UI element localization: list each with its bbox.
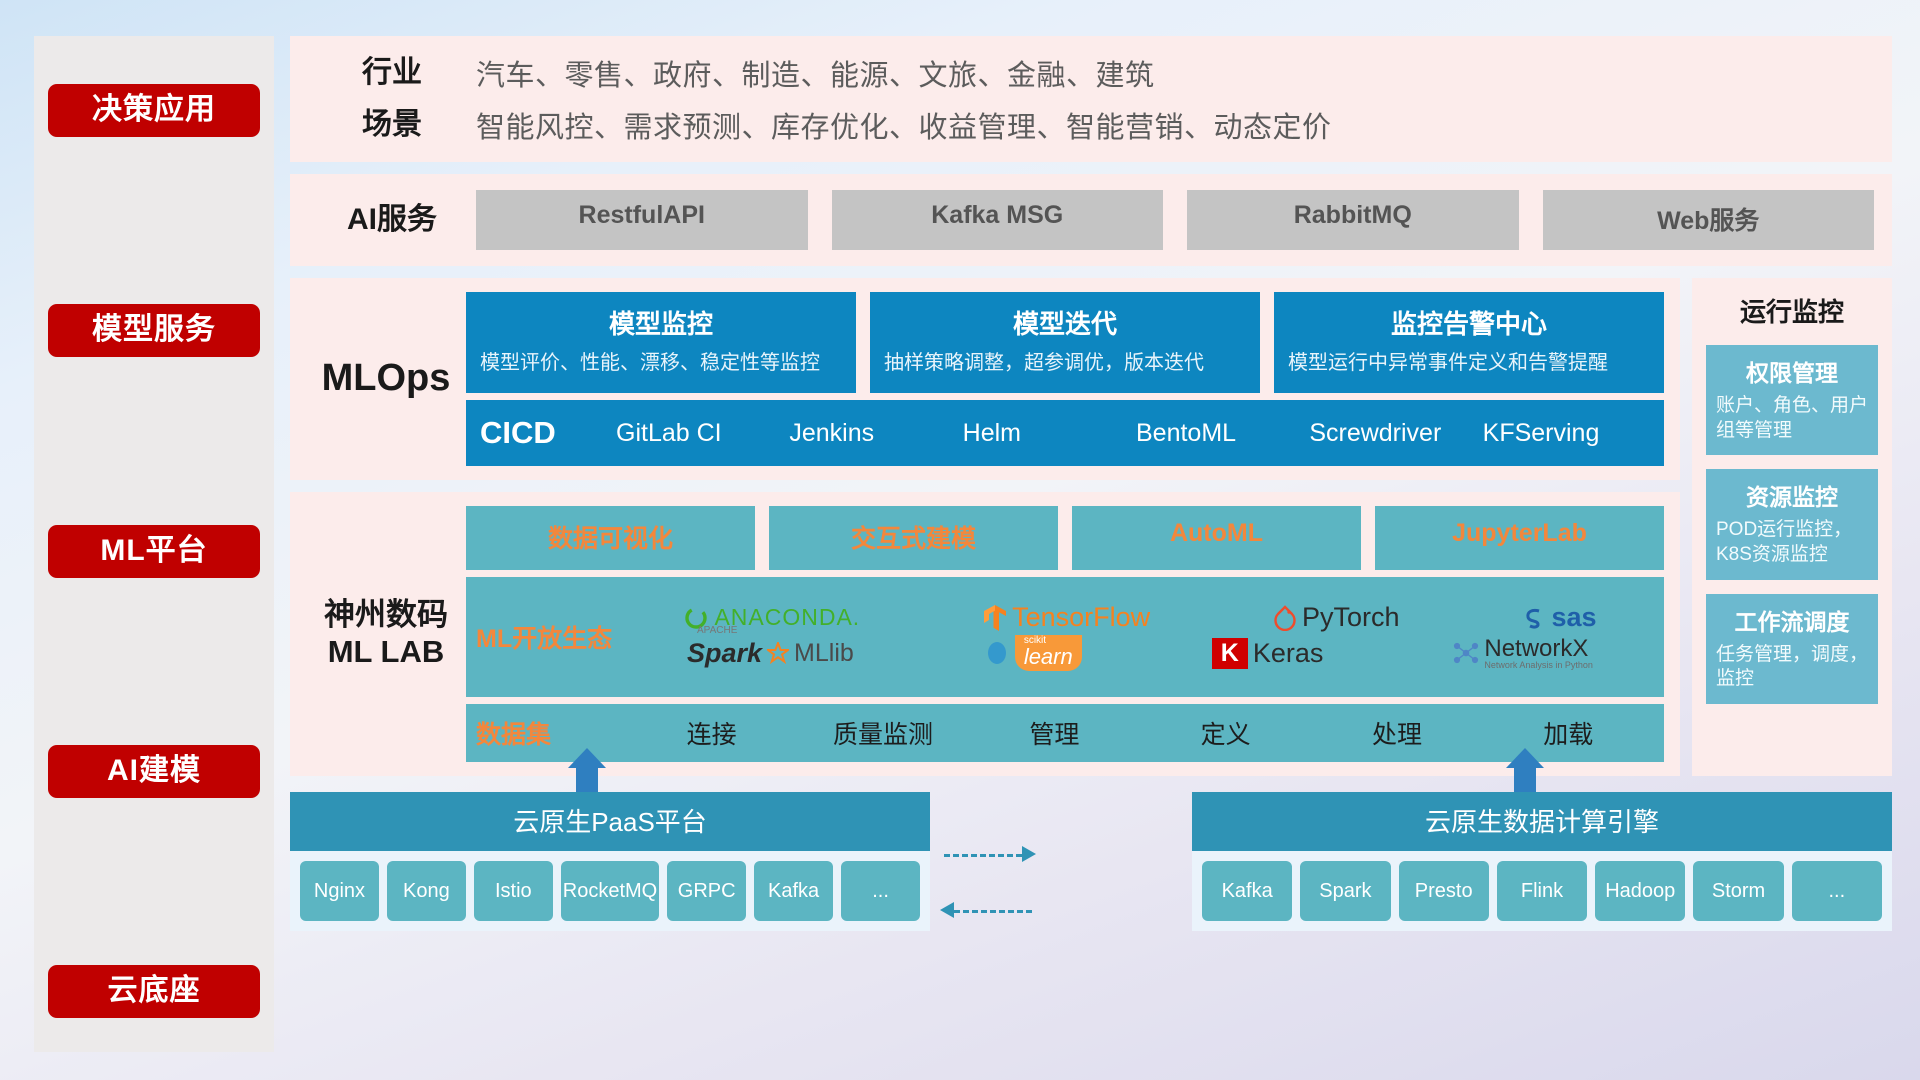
cicd-item-gitlab-ci[interactable]: GitLab CI: [616, 420, 783, 446]
service-kafka-msg[interactable]: Kafka MSG: [832, 190, 1164, 250]
eco-logo-row-1: ANACONDA. TensorFlow: [626, 602, 1654, 633]
ml-lab-label: 神州数码 ML LAB: [306, 506, 466, 762]
arrow-left-head: [940, 902, 954, 918]
paas-chip-kafka[interactable]: Kafka: [754, 861, 833, 921]
decision-apps-band: 行业 汽车、零售、政府、制造、能源、文旅、金融、建筑 场景 智能风控、需求预测、…: [290, 36, 1892, 162]
paas-chip-rocketmq[interactable]: RocketMQ: [561, 861, 659, 921]
cicd-item-screwdriver[interactable]: Screwdriver: [1309, 420, 1476, 446]
dataset-item-quality-monitor[interactable]: 质量监测: [797, 715, 968, 751]
data-engine-block: 云原生数据计算引擎 Kafka Spark Presto Flink Hadoo…: [1192, 792, 1892, 931]
paas-up-arrow-head: [568, 748, 606, 768]
monitor-card-permission[interactable]: 权限管理 账户、角色、用户组等管理: [1706, 345, 1878, 455]
service-rabbitmq[interactable]: RabbitMQ: [1187, 190, 1519, 250]
mlops-card-model-monitor[interactable]: 模型监控 模型评价、性能、漂移、稳定性等监控: [466, 292, 856, 393]
scenario-list: 智能风控、需求预测、库存优化、收益管理、智能营销、动态定价: [476, 104, 1332, 146]
paas-chip-kong[interactable]: Kong: [387, 861, 466, 921]
cloud-link-arrows: [930, 792, 1192, 931]
card-title: 资源监控: [1716, 478, 1868, 512]
card-title: 模型监控: [480, 304, 842, 341]
ai-service-label: AI服务: [308, 202, 476, 237]
spark-star-icon: [767, 642, 789, 664]
mllib-label: MLlib: [794, 639, 854, 668]
engine-chip-flink[interactable]: Flink: [1497, 861, 1587, 921]
pytorch-label: PyTorch: [1302, 602, 1400, 633]
pytorch-icon: [1273, 605, 1297, 631]
keras-label: Keras: [1253, 638, 1324, 669]
ml-lab-label-line1: 神州数码: [324, 597, 448, 634]
keras-k-icon: K: [1212, 638, 1248, 669]
dataset-item-manage[interactable]: 管理: [969, 715, 1140, 751]
networkx-icon: [1453, 641, 1479, 665]
tensorflow-logo: TensorFlow: [983, 602, 1150, 633]
monitoring-title: 运行监控: [1706, 292, 1878, 329]
ml-lab-label-line2: ML LAB: [324, 634, 448, 671]
rail-chip-cloud-base[interactable]: 云底座: [48, 965, 260, 1018]
lab-tool-jupyterlab[interactable]: JupyterLab: [1375, 506, 1664, 570]
cicd-bar: CICD GitLab CI Jenkins Helm BentoML Scre…: [466, 400, 1664, 466]
service-restful-api[interactable]: RestfulAPI: [476, 190, 808, 250]
paas-title: 云原生PaaS平台: [290, 792, 930, 851]
eco-label: ML开放生态: [476, 619, 626, 655]
main-column: 行业 汽车、零售、政府、制造、能源、文旅、金融、建筑 场景 智能风控、需求预测、…: [290, 36, 1892, 1052]
paas-chip-more[interactable]: ...: [841, 861, 920, 921]
mlops-content: 模型监控 模型评价、性能、漂移、稳定性等监控 模型迭代 抽样策略调整，超参调优，…: [466, 292, 1664, 466]
scikit-learn-logo: scikit learn: [984, 635, 1082, 671]
ml-lab-band: 神州数码 ML LAB 数据可视化 交互式建模 AutoML JupyterLa…: [290, 492, 1680, 776]
monitor-card-workflow[interactable]: 工作流调度 任务管理，调度，监控: [1706, 594, 1878, 704]
card-title: 监控告警中心: [1288, 304, 1650, 341]
engine-chip-kafka[interactable]: Kafka: [1202, 861, 1292, 921]
dataset-bar: 数据集 连接 质量监测 管理 定义 处理 加载: [466, 704, 1664, 762]
industry-line: 行业 汽车、零售、政府、制造、能源、文旅、金融、建筑: [308, 52, 1874, 94]
spark-label: Spark: [687, 638, 762, 668]
tensorflow-label: TensorFlow: [1012, 602, 1150, 633]
arrow-right-dashed: [944, 854, 1022, 857]
engine-up-arrow-head: [1506, 748, 1544, 768]
dataset-item-define[interactable]: 定义: [1140, 715, 1311, 751]
engine-chip-list: Kafka Spark Presto Flink Hadoop Storm ..…: [1192, 851, 1892, 931]
card-title: 工作流调度: [1716, 603, 1868, 637]
dataset-item-process[interactable]: 处理: [1311, 715, 1482, 751]
architecture-diagram: 决策应用 模型服务 ML平台 AI建模 云底座 行业 汽车、零售、政府、制造、能…: [0, 0, 1920, 1080]
card-desc: 任务管理，调度，监控: [1716, 643, 1868, 692]
paas-chip-list: Nginx Kong Istio RocketMQ GRPC Kafka ...: [290, 851, 930, 931]
networkx-logo: NetworkX Network Analysis in Python: [1453, 636, 1593, 671]
arrow-right-head: [1022, 846, 1036, 862]
monitor-card-resource[interactable]: 资源监控 POD运行监控，K8S资源监控: [1706, 469, 1878, 579]
engine-chip-storm[interactable]: Storm: [1693, 861, 1783, 921]
cloud-base-row: 云原生PaaS平台 Nginx Kong Istio RocketMQ GRPC…: [290, 792, 1892, 931]
card-desc: 抽样策略调整，超参调优，版本迭代: [884, 350, 1246, 377]
paas-up-arrow-stem: [576, 766, 598, 792]
engine-chip-presto[interactable]: Presto: [1399, 861, 1489, 921]
sas-label: sas: [1551, 602, 1596, 633]
paas-block: 云原生PaaS平台 Nginx Kong Istio RocketMQ GRPC…: [290, 792, 930, 931]
industry-label: 行业: [308, 55, 476, 90]
networkx-label: NetworkX: [1484, 636, 1593, 661]
scenario-line: 场景 智能风控、需求预测、库存优化、收益管理、智能营销、动态定价: [308, 104, 1874, 146]
card-desc: 模型运行中异常事件定义和告警提醒: [1288, 350, 1650, 377]
engine-up-arrow-stem: [1514, 766, 1536, 792]
dataset-label: 数据集: [476, 715, 626, 751]
ai-service-band: AI服务 RestfulAPI Kafka MSG RabbitMQ Web服务: [290, 174, 1892, 266]
scenario-label: 场景: [308, 107, 476, 142]
spark-apache-label: APACHE: [697, 625, 737, 636]
eco-logo-row-2: APACHE Spark MLlib: [626, 635, 1654, 671]
cicd-title: CICD: [480, 415, 610, 451]
dataset-item-connect[interactable]: 连接: [626, 715, 797, 751]
mlops-band: MLOps 模型监控 模型评价、性能、漂移、稳定性等监控 模型迭代 抽样策略调整…: [290, 278, 1680, 480]
runtime-monitoring-sidebar: 运行监控 权限管理 账户、角色、用户组等管理 资源监控 POD运行监控，K8S资…: [1692, 278, 1892, 776]
pytorch-logo: PyTorch: [1273, 602, 1400, 633]
ml-lab-tool-list: 数据可视化 交互式建模 AutoML JupyterLab: [466, 506, 1664, 570]
sas-icon: [1522, 606, 1546, 630]
eco-logo-grid: ANACONDA. TensorFlow: [626, 602, 1654, 671]
cicd-item-jenkins[interactable]: Jenkins: [789, 420, 956, 446]
rail-chip-ml-platform[interactable]: ML平台: [48, 525, 260, 578]
mlops-card-alert-center[interactable]: 监控告警中心 模型运行中异常事件定义和告警提醒: [1274, 292, 1664, 393]
card-desc: 模型评价、性能、漂移、稳定性等监控: [480, 350, 842, 377]
mlops-card-model-iteration[interactable]: 模型迭代 抽样策略调整，超参调优，版本迭代: [870, 292, 1260, 393]
cicd-item-bentoml[interactable]: BentoML: [1136, 420, 1303, 446]
engine-title: 云原生数据计算引擎: [1192, 792, 1892, 851]
service-web[interactable]: Web服务: [1543, 190, 1875, 250]
cicd-item-kfserving[interactable]: KFServing: [1483, 420, 1650, 446]
dataset-item-load[interactable]: 加载: [1483, 715, 1654, 751]
sas-logo: sas: [1522, 602, 1596, 633]
arrow-left-dashed: [954, 910, 1032, 913]
lab-tool-interactive-modeling[interactable]: 交互式建模: [769, 506, 1058, 570]
rail-chip-model-service[interactable]: 模型服务: [48, 304, 260, 357]
engine-chip-spark[interactable]: Spark: [1300, 861, 1390, 921]
paas-chip-istio[interactable]: Istio: [474, 861, 553, 921]
card-title: 模型迭代: [884, 304, 1246, 341]
industry-list: 汽车、零售、政府、制造、能源、文旅、金融、建筑: [476, 52, 1155, 94]
tensorflow-icon: [983, 604, 1007, 632]
scikit-blue-blob-icon: [984, 640, 1010, 666]
rail-chip-ai-modeling[interactable]: AI建模: [48, 745, 260, 798]
lab-tool-automl[interactable]: AutoML: [1072, 506, 1361, 570]
paas-chip-nginx[interactable]: Nginx: [300, 861, 379, 921]
mlops-card-list: 模型监控 模型评价、性能、漂移、稳定性等监控 模型迭代 抽样策略调整，超参调优，…: [466, 292, 1664, 393]
paas-chip-grpc[interactable]: GRPC: [667, 861, 746, 921]
card-desc: 账户、角色、用户组等管理: [1716, 394, 1868, 443]
cicd-item-helm[interactable]: Helm: [963, 420, 1130, 446]
platform-stack: MLOps 模型监控 模型评价、性能、漂移、稳定性等监控 模型迭代 抽样策略调整…: [290, 278, 1680, 776]
ml-lab-content: 数据可视化 交互式建模 AutoML JupyterLab ML开放生态: [466, 506, 1664, 762]
engine-chip-hadoop[interactable]: Hadoop: [1595, 861, 1685, 921]
card-desc: POD运行监控，K8S资源监控: [1716, 518, 1868, 567]
learn-label: learn: [1024, 646, 1073, 668]
card-title: 权限管理: [1716, 354, 1868, 388]
spark-mllib-logo: APACHE Spark MLlib: [687, 638, 854, 669]
ml-open-ecosystem: ML开放生态 ANACONDA.: [466, 577, 1664, 697]
layer-rail: 决策应用 模型服务 ML平台 AI建模 云底座: [34, 36, 274, 1052]
mlops-label: MLOps: [306, 292, 466, 466]
rail-chip-decision-apps[interactable]: 决策应用: [48, 84, 260, 137]
ai-service-list: RestfulAPI Kafka MSG RabbitMQ Web服务: [476, 190, 1874, 250]
networkx-sublabel: Network Analysis in Python: [1484, 661, 1593, 670]
lab-tool-data-visualization[interactable]: 数据可视化: [466, 506, 755, 570]
keras-logo: K Keras: [1212, 638, 1324, 669]
engine-chip-more[interactable]: ...: [1792, 861, 1882, 921]
platform-and-monitoring: MLOps 模型监控 模型评价、性能、漂移、稳定性等监控 模型迭代 抽样策略调整…: [290, 278, 1892, 776]
